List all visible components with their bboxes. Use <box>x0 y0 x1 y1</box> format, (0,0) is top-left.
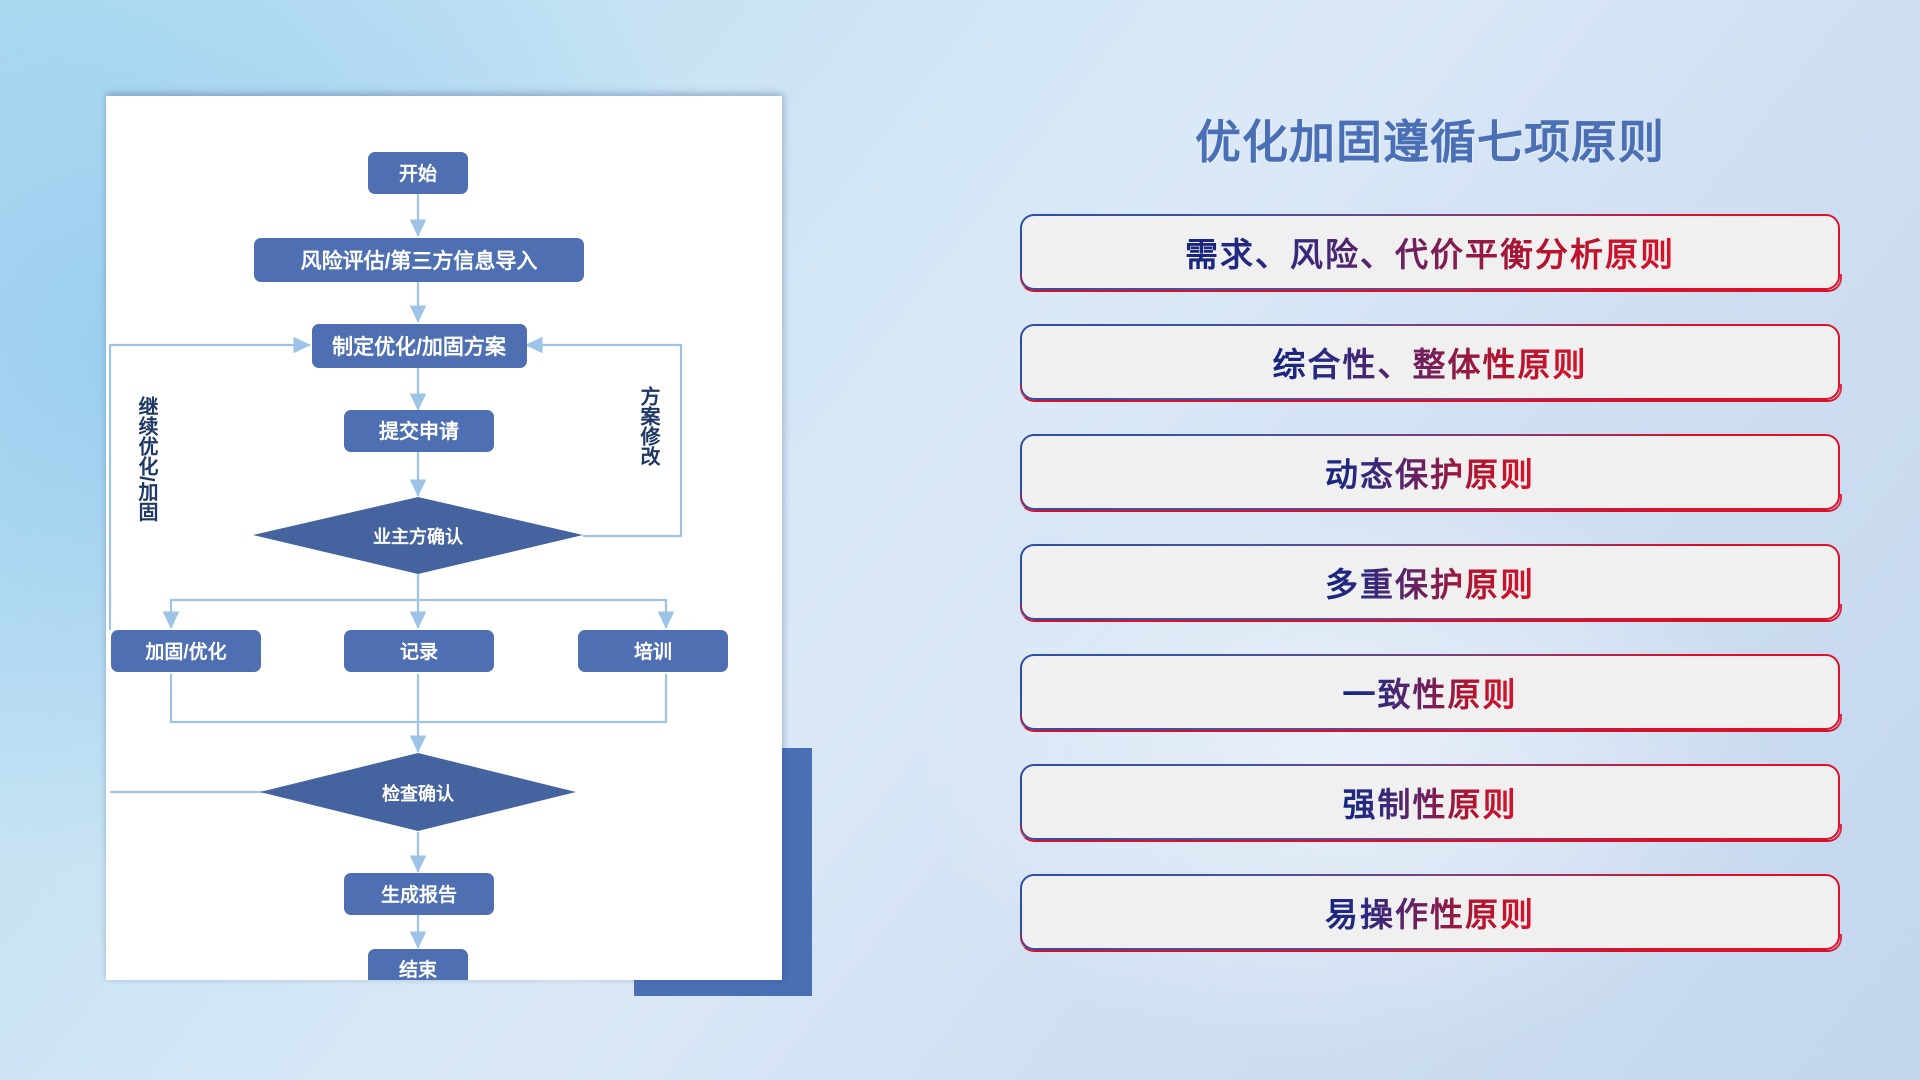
principle-label-1: 需求、风险、代价平衡分析原则 <box>1185 228 1675 276</box>
node-check-confirm[interactable]: 检查确认 <box>260 753 576 831</box>
node-start[interactable]: 开始 <box>368 152 468 194</box>
edge-confirm-to-reinforce <box>171 600 418 628</box>
principle-card-5[interactable]: 一致性原则 <box>1020 654 1840 730</box>
edge-label-continue-optimize: 继续优化/加固 <box>135 395 159 522</box>
principle-label-5: 一致性原则 <box>1343 668 1518 716</box>
node-generate-report[interactable]: 生成报告 <box>344 873 494 915</box>
node-reinforce-optimize[interactable]: 加固/优化 <box>111 630 261 672</box>
principle-card-2[interactable]: 综合性、整体性原则 <box>1020 324 1840 400</box>
flowchart-diagram: 开始 风险评估/第三方信息导入 制定优化/加固方案 提交申请 业主方确认 加固/ <box>106 96 782 980</box>
node-training[interactable]: 培训 <box>578 630 728 672</box>
node-risk-assessment[interactable]: 风险评估/第三方信息导入 <box>254 238 584 282</box>
principle-label-4: 多重保护原则 <box>1325 558 1535 606</box>
node-record[interactable]: 记录 <box>344 630 494 672</box>
principle-label-3: 动态保护原则 <box>1325 448 1535 496</box>
edge-plan-revision-loop <box>526 345 681 536</box>
edge-label-plan-revision: 方案修改 <box>637 385 661 467</box>
page-title: 优化加固遵循七项原则 <box>1020 106 1840 172</box>
principle-card-3[interactable]: 动态保护原则 <box>1020 434 1840 510</box>
edge-confirm-to-training <box>418 600 666 628</box>
principle-label-2: 综合性、整体性原则 <box>1273 338 1588 386</box>
node-make-plan[interactable]: 制定优化/加固方案 <box>312 324 527 368</box>
principle-card-4[interactable]: 多重保护原则 <box>1020 544 1840 620</box>
node-owner-confirm[interactable]: 业主方确认 <box>253 497 583 574</box>
principle-label-6: 强制性原则 <box>1343 778 1518 826</box>
slide-canvas: 开始 风险评估/第三方信息导入 制定优化/加固方案 提交申请 业主方确认 加固/ <box>0 0 1920 1080</box>
edge-continue-optimize-loop <box>110 345 310 630</box>
principle-label-7: 易操作性原则 <box>1325 888 1535 936</box>
principle-card-6[interactable]: 强制性原则 <box>1020 764 1840 840</box>
flowchart-panel: 开始 风险评估/第三方信息导入 制定优化/加固方案 提交申请 业主方确认 加固/ <box>106 96 782 980</box>
principle-card-1[interactable]: 需求、风险、代价平衡分析原则 <box>1020 214 1840 290</box>
principle-card-7[interactable]: 易操作性原则 <box>1020 874 1840 950</box>
principles-panel: 优化加固遵循七项原则 需求、风险、代价平衡分析原则 综合性、整体性原则 动态保护… <box>1020 96 1840 996</box>
node-end[interactable]: 结束 <box>368 949 468 980</box>
node-submit-application[interactable]: 提交申请 <box>344 410 494 452</box>
